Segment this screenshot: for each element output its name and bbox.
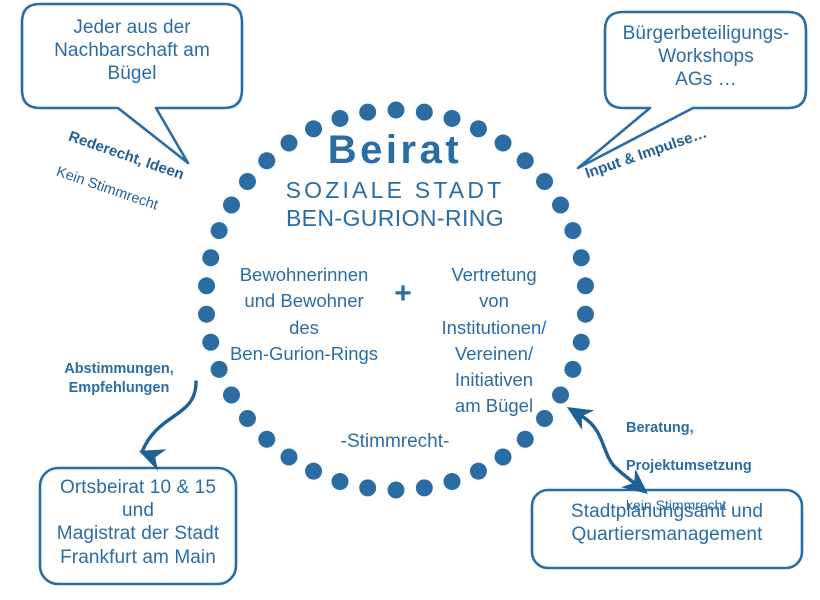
arrow-label-beratung-line1: Beratung, bbox=[626, 419, 796, 438]
ring-dot bbox=[577, 277, 594, 294]
ring-dot bbox=[388, 482, 405, 499]
ring-dot bbox=[564, 222, 581, 239]
ring-dot bbox=[495, 448, 512, 465]
bubble-text-top-left: Jeder aus der Nachbarschaft am Bügel bbox=[32, 16, 232, 86]
ring-dot bbox=[444, 473, 461, 490]
arrow-label-beratung: Beratung, Projektumsetzung kein Stimmrec… bbox=[626, 400, 796, 533]
ring-dot bbox=[223, 387, 240, 404]
ring-dot bbox=[258, 431, 275, 448]
ring-dot bbox=[223, 197, 240, 214]
plus-icon: + bbox=[386, 276, 420, 313]
ring-dot bbox=[577, 306, 594, 323]
ring-dot bbox=[280, 448, 297, 465]
ring-dot bbox=[388, 102, 405, 119]
ring-dot bbox=[416, 104, 433, 121]
ring-dot bbox=[198, 306, 215, 323]
ring-dot bbox=[470, 463, 487, 480]
ring-dot bbox=[211, 222, 228, 239]
ring-dot bbox=[416, 479, 433, 496]
ring-dot bbox=[359, 479, 376, 496]
bubble-text-top-right: Bürgerbeteiligungs- Workshops AGs … bbox=[612, 22, 800, 92]
ring-dot bbox=[239, 410, 256, 427]
ring-dot bbox=[332, 110, 349, 127]
arrow-label-beratung-line2: Projektumsetzung bbox=[626, 457, 796, 476]
center-footer-note: -Stimmrecht- bbox=[300, 430, 490, 453]
center-subtitle-1: SOZIALE STADT bbox=[245, 176, 545, 204]
ring-dot bbox=[573, 249, 590, 266]
center-title: Beirat bbox=[245, 126, 545, 175]
ring-dot bbox=[573, 334, 590, 351]
box-text-bottom-left: Ortsbeirat 10 & 15 und Magistrat der Sta… bbox=[44, 476, 232, 569]
arrow-label-abstimmungen: Abstimmungen, Empfehlungen bbox=[44, 360, 194, 398]
ring-dot bbox=[332, 473, 349, 490]
center-subtitle-2: BEN-GURION-RING bbox=[245, 204, 545, 232]
ring-dot bbox=[305, 463, 322, 480]
diagram-canvas: Jeder aus der Nachbarschaft am Bügel Bür… bbox=[0, 0, 820, 600]
ring-dot bbox=[552, 197, 569, 214]
ring-dot bbox=[517, 431, 534, 448]
ring-dot bbox=[444, 110, 461, 127]
ring-dot bbox=[198, 277, 215, 294]
arrow-label-beratung-line3: kein Stimmrecht bbox=[626, 496, 796, 514]
center-column-left: Bewohnerinnen und Bewohner des Ben-Gurio… bbox=[215, 262, 393, 367]
center-column-right: Vertretung von Institutionen/ Vereinen/ … bbox=[418, 262, 570, 420]
ring-dot bbox=[359, 104, 376, 121]
